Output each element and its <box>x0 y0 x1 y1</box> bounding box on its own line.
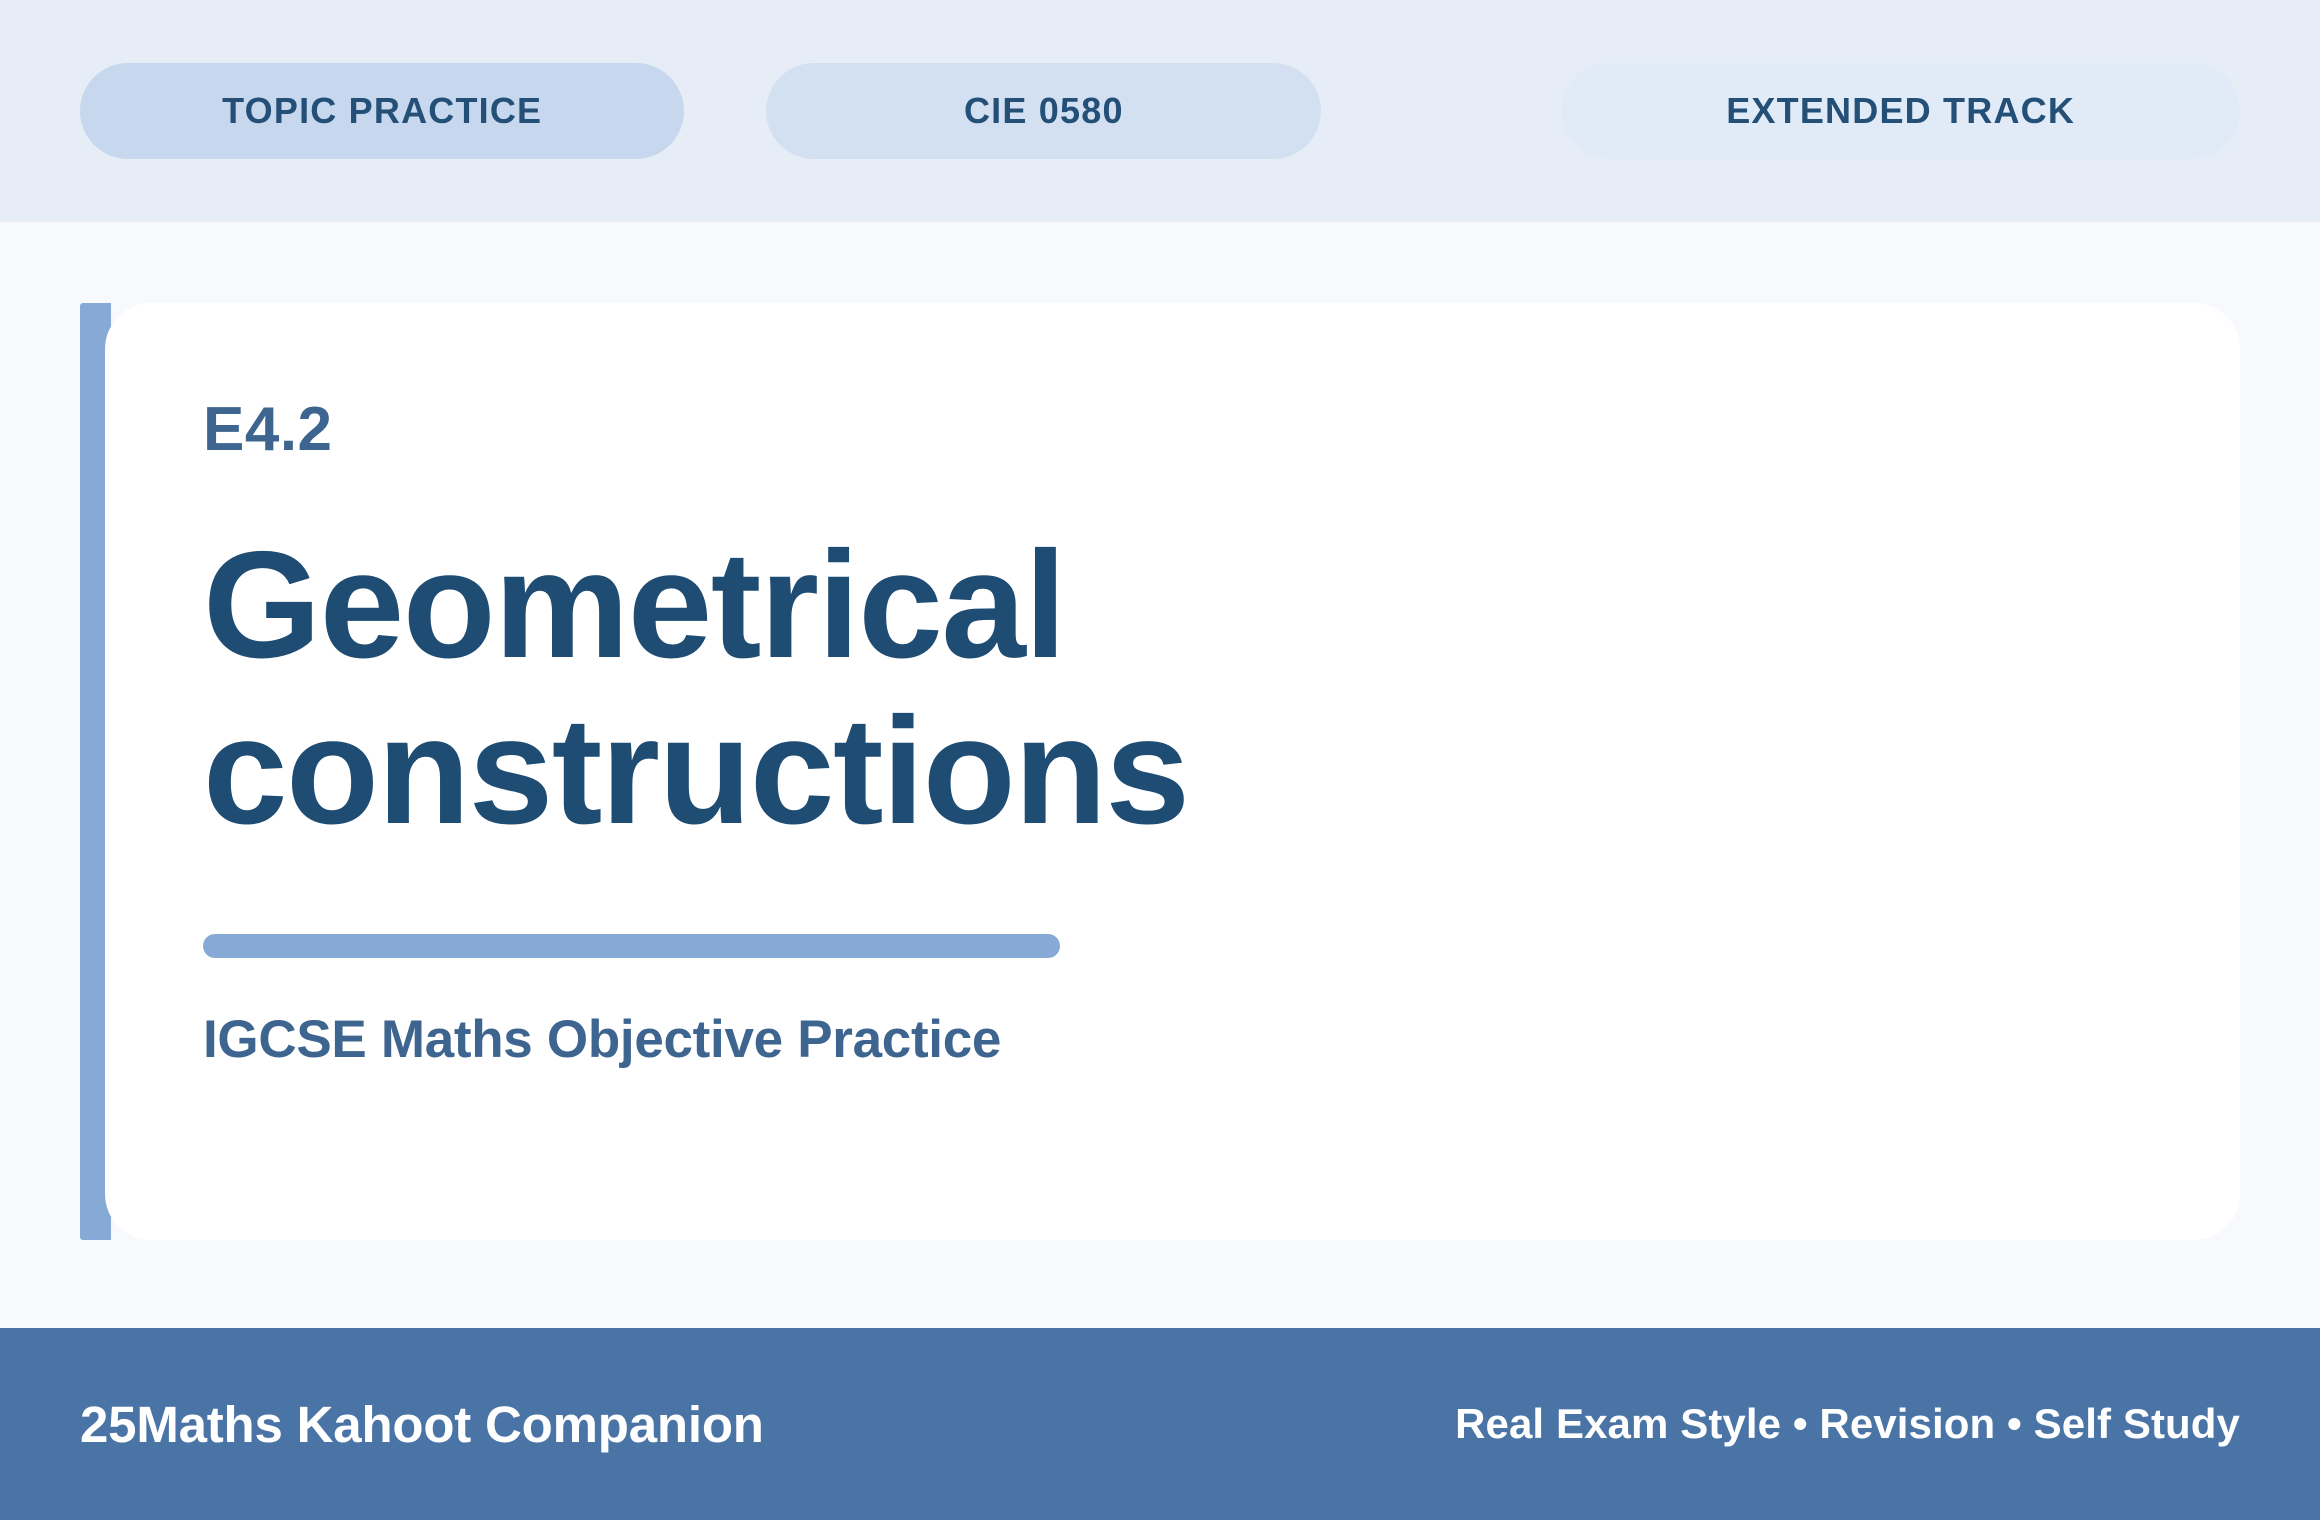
content-card: E4.2 Geometrical constructions IGCSE Mat… <box>105 303 2240 1240</box>
chip-extended-track-label: EXTENDED TRACK <box>1726 90 2075 132</box>
chip-syllabus-code[interactable]: CIE 0580 <box>766 63 1321 159</box>
content-card-wrapper: E4.2 Geometrical constructions IGCSE Mat… <box>80 303 2240 1240</box>
header-bar: TOPIC PRACTICE CIE 0580 EXTENDED TRACK <box>0 0 2320 222</box>
body-area: E4.2 Geometrical constructions IGCSE Mat… <box>0 222 2320 1328</box>
chip-extended-track[interactable]: EXTENDED TRACK <box>1561 63 2240 159</box>
footer-brand: 25Maths Kahoot Companion <box>80 1395 764 1454</box>
title-slide: TOPIC PRACTICE CIE 0580 EXTENDED TRACK E… <box>0 0 2320 1520</box>
chip-topic-practice-label: TOPIC PRACTICE <box>222 90 542 132</box>
footer-bar: 25Maths Kahoot Companion Real Exam Style… <box>0 1328 2320 1520</box>
objective-code: E4.2 <box>203 399 2120 461</box>
page-subtitle: IGCSE Maths Objective Practice <box>203 1013 2120 1066</box>
chip-syllabus-code-label: CIE 0580 <box>964 90 1124 132</box>
chip-topic-practice[interactable]: TOPIC PRACTICE <box>80 63 684 159</box>
page-title: Geometrical constructions <box>203 523 1603 854</box>
footer-tagline: Real Exam Style • Revision • Self Study <box>1455 1400 2240 1448</box>
title-divider <box>203 934 1060 958</box>
